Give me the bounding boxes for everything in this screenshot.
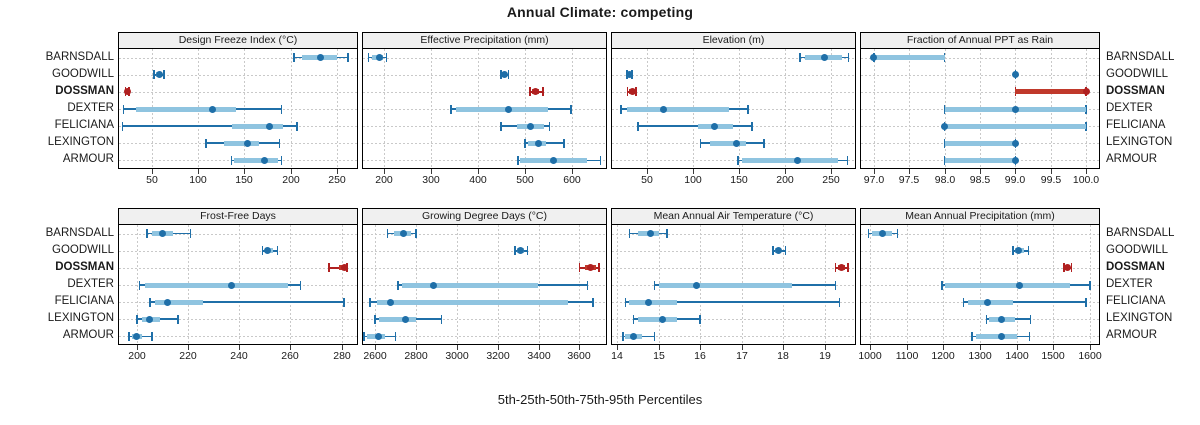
median-point xyxy=(1012,157,1019,164)
whisker-cap-low xyxy=(146,229,148,238)
median-point xyxy=(517,247,524,254)
row-label-armour: ARMOUR xyxy=(1106,154,1157,166)
gridline-horizontal xyxy=(363,126,606,127)
plot-area xyxy=(118,225,358,345)
interquartile-bar xyxy=(629,300,677,305)
whisker-cap-high xyxy=(163,70,165,79)
axis-tick-label: 15 xyxy=(653,351,665,362)
panel-title-strip: Growing Degree Days (°C) xyxy=(362,208,607,225)
plot-area xyxy=(860,225,1100,345)
whisker-cap-high xyxy=(847,263,849,272)
axis-tick-label: 600 xyxy=(563,175,581,186)
whisker-cap-high xyxy=(1085,298,1087,307)
whisker-cap-low xyxy=(139,281,141,290)
median-point xyxy=(430,282,437,289)
median-point xyxy=(775,247,782,254)
panel-title-text: Design Freeze Index (°C) xyxy=(179,35,298,46)
axis-tick-label: 1200 xyxy=(931,351,954,362)
whisker-cap-high xyxy=(587,281,589,290)
interquartile-bar xyxy=(145,283,288,288)
axis-tick-label: 1300 xyxy=(968,351,991,362)
whisker-cap-low xyxy=(231,156,233,165)
x-axis: 141516171819 xyxy=(611,345,856,365)
gridline-horizontal xyxy=(119,92,357,93)
whisker-cap-high xyxy=(441,315,443,324)
interquartile-bar xyxy=(377,300,568,305)
whisker-cap-low xyxy=(637,122,639,131)
gridline-horizontal xyxy=(363,251,606,252)
axis-tick-label: 17 xyxy=(736,351,748,362)
axis-tick-label: 500 xyxy=(516,175,534,186)
whisker-cap-low xyxy=(629,229,631,238)
interquartile-bar xyxy=(224,141,259,146)
whisker-cap-high xyxy=(600,156,602,165)
axis-tick-label: 18 xyxy=(777,351,789,362)
whisker-cap-high xyxy=(835,281,837,290)
median-point xyxy=(659,316,666,323)
plot-area xyxy=(362,225,607,345)
median-point xyxy=(164,299,171,306)
row-label-lexington: LEXINGTON xyxy=(48,137,114,149)
median-point xyxy=(244,140,251,147)
interquartile-bar xyxy=(742,158,839,163)
axis-tick-label: 400 xyxy=(469,175,487,186)
panel-title-text: Fraction of Annual PPT as Rain xyxy=(907,35,1053,46)
median-point xyxy=(228,282,235,289)
whisker-cap-low xyxy=(397,281,399,290)
gridline-horizontal xyxy=(612,92,855,93)
panel-effective-precipitation-mm: Effective Precipitation (mm)200300400500… xyxy=(362,32,607,189)
x-axis: 200300400500600 xyxy=(362,169,607,189)
panel-elevation-m: Elevation (m)50100150200250 xyxy=(611,32,856,189)
median-point xyxy=(209,106,216,113)
whisker-cap-high xyxy=(839,298,841,307)
axis-tick-label: 100.0 xyxy=(1073,175,1099,186)
whisker-cap-high xyxy=(415,229,417,238)
whisker-cap-high xyxy=(281,105,283,114)
axis-tick-label: 50 xyxy=(641,175,653,186)
axis-tick-label: 2800 xyxy=(404,351,427,362)
axis-tick-label: 200 xyxy=(282,175,300,186)
axis-tick-label: 1000 xyxy=(858,351,881,362)
row-label-lexington: LEXINGTON xyxy=(48,313,114,325)
axis-tick-label: 260 xyxy=(281,351,299,362)
panel-title-text: Growing Degree Days (°C) xyxy=(422,211,547,222)
gridline-horizontal xyxy=(119,336,357,337)
median-point xyxy=(1016,282,1023,289)
gridline-horizontal xyxy=(861,251,1099,252)
panel-title-strip: Mean Annual Air Temperature (°C) xyxy=(611,208,856,225)
whisker-cap-low xyxy=(368,53,370,62)
row-label-goodwill: GOODWILL xyxy=(52,69,114,81)
x-axis: 97.097.598.098.599.099.5100.0 xyxy=(860,169,1100,189)
interquartile-bar xyxy=(402,283,538,288)
gridline-horizontal xyxy=(363,75,606,76)
axis-tick-label: 100 xyxy=(189,175,207,186)
whisker-cap-high xyxy=(151,332,153,341)
median-point xyxy=(266,123,273,130)
median-point xyxy=(660,106,667,113)
interquartile-bar xyxy=(234,158,277,163)
median-point xyxy=(146,316,153,323)
whisker-cap-high xyxy=(1029,332,1031,341)
whisker-cap-low xyxy=(700,139,702,148)
median-point xyxy=(1012,71,1019,78)
whisker-cap-high xyxy=(763,139,765,148)
interquartile-bar xyxy=(945,141,1016,146)
whisker-cap-high xyxy=(177,315,179,324)
whisker-cap-low xyxy=(514,246,516,255)
axis-tick-label: 14 xyxy=(611,351,623,362)
axis-tick-label: 200 xyxy=(128,351,146,362)
whisker-cap-low xyxy=(654,281,656,290)
interquartile-bar xyxy=(945,283,1069,288)
row-label-lexington: LEXINGTON xyxy=(1106,313,1172,325)
interquartile-bar xyxy=(945,124,1087,129)
whisker-cap-low xyxy=(799,53,801,62)
gridline-horizontal xyxy=(363,268,606,269)
whisker-cap-high xyxy=(1089,281,1091,290)
row-label-armour: ARMOUR xyxy=(63,330,114,342)
median-point xyxy=(317,54,324,61)
panel-title-strip: Elevation (m) xyxy=(611,32,856,49)
panel-frost-free-days: Frost-Free Days200220240260280 xyxy=(118,208,358,365)
whisker-cap-high xyxy=(279,139,281,148)
whisker-cap-low xyxy=(374,315,376,324)
row-label-dossman: DOSSMAN xyxy=(1106,86,1165,98)
whisker-cap-low xyxy=(500,122,502,131)
axis-tick-label: 98.0 xyxy=(935,175,955,186)
gridline-horizontal xyxy=(612,251,855,252)
gridline-horizontal xyxy=(861,75,1099,76)
whisker-cap-low xyxy=(450,105,452,114)
axis-tick-label: 150 xyxy=(235,175,253,186)
panel-mean-annual-precipitation-mm: Mean Annual Precipitation (mm)1000110012… xyxy=(860,208,1100,365)
interquartile-bar xyxy=(710,141,747,146)
whisker-cap-low xyxy=(620,105,622,114)
panel-design-freeze-index-c: Design Freeze Index (°C)50100150200250 xyxy=(118,32,358,189)
median-point xyxy=(1012,140,1019,147)
percentile-legend-label: 5th-25th-50th-75th-95th Percentiles xyxy=(0,392,1200,407)
climate-chart-figure: Annual Climate: competing 5th-25th-50th-… xyxy=(0,0,1200,425)
whisker-cap-high xyxy=(542,87,544,96)
whisker-cap-low xyxy=(633,315,635,324)
whisker-line xyxy=(638,125,752,127)
whisker-cap-low xyxy=(149,298,151,307)
row-label-dossman: DOSSMAN xyxy=(55,262,114,274)
axis-tick-label: 280 xyxy=(333,351,351,362)
row-label-lexington: LEXINGTON xyxy=(1106,137,1172,149)
whisker-cap-high xyxy=(654,332,656,341)
median-point xyxy=(998,316,1005,323)
whisker-cap-low xyxy=(153,70,155,79)
whisker-cap-low xyxy=(941,281,943,290)
panel-title-text: Mean Annual Precipitation (mm) xyxy=(905,211,1054,222)
whisker-cap-low xyxy=(524,139,526,148)
gridline-horizontal xyxy=(363,92,606,93)
axis-tick-label: 300 xyxy=(422,175,440,186)
median-point xyxy=(733,140,740,147)
whisker-cap-low xyxy=(262,246,264,255)
plot-area xyxy=(611,225,856,345)
interquartile-bar xyxy=(659,283,792,288)
whisker-cap-low xyxy=(579,263,581,272)
panel-title-text: Elevation (m) xyxy=(703,35,765,46)
median-point xyxy=(630,333,637,340)
row-label-dossman: DOSSMAN xyxy=(1106,262,1165,274)
row-label-feliciana: FELICIANA xyxy=(1106,120,1165,132)
whisker-cap-high xyxy=(848,53,850,62)
median-point xyxy=(645,299,652,306)
whisker-cap-low xyxy=(971,332,973,341)
plot-area xyxy=(611,49,856,169)
gridline-horizontal xyxy=(119,268,357,269)
median-point xyxy=(941,123,948,130)
row-label-barnsdall: BARNSDALL xyxy=(46,228,114,240)
panel-title-strip: Mean Annual Precipitation (mm) xyxy=(860,208,1100,225)
whisker-cap-high xyxy=(1028,246,1030,255)
row-label-barnsdall: BARNSDALL xyxy=(1106,52,1174,64)
interquartile-bar xyxy=(627,107,729,112)
plot-area xyxy=(362,49,607,169)
gridline-horizontal xyxy=(861,319,1099,320)
axis-tick-label: 1500 xyxy=(1041,351,1064,362)
median-point xyxy=(527,123,534,130)
row-labels-left: BARNSDALLGOODWILLDOSSMANDEXTERFELICIANAL… xyxy=(0,225,114,345)
median-point xyxy=(693,282,700,289)
axis-tick-label: 1400 xyxy=(1005,351,1028,362)
interquartile-bar xyxy=(1015,89,1086,94)
gridline-horizontal xyxy=(119,251,357,252)
axis-tick-label: 250 xyxy=(328,175,346,186)
median-point xyxy=(711,123,718,130)
median-point xyxy=(505,106,512,113)
axis-tick-label: 2600 xyxy=(363,351,386,362)
axis-tick-label: 3400 xyxy=(527,351,550,362)
axis-tick-label: 99.5 xyxy=(1041,175,1061,186)
whisker-cap-low xyxy=(1012,246,1014,255)
x-axis: 260028003000320034003600 xyxy=(362,345,607,365)
x-axis: 200220240260280 xyxy=(118,345,358,365)
whisker-cap-low xyxy=(328,263,330,272)
panel-title-text: Frost-Free Days xyxy=(200,211,276,222)
whisker-cap-high xyxy=(592,298,594,307)
axis-tick-label: 1600 xyxy=(1078,351,1101,362)
interquartile-bar xyxy=(456,107,548,112)
median-point xyxy=(376,54,383,61)
row-label-dexter: DEXTER xyxy=(1106,103,1153,115)
axis-tick-label: 250 xyxy=(822,175,840,186)
interquartile-bar xyxy=(638,317,678,322)
row-label-armour: ARMOUR xyxy=(63,154,114,166)
whisker-cap-high xyxy=(897,229,899,238)
whisker-cap-low xyxy=(625,298,627,307)
interquartile-bar xyxy=(976,334,1016,339)
panel-title-text: Mean Annual Air Temperature (°C) xyxy=(654,211,814,222)
row-labels-left: BARNSDALLGOODWILLDOSSMANDEXTERFELICIANAL… xyxy=(0,49,114,169)
axis-tick-label: 3000 xyxy=(445,351,468,362)
median-point xyxy=(647,230,654,237)
whisker-cap-high xyxy=(563,139,565,148)
whisker-cap-low xyxy=(123,105,125,114)
row-label-goodwill: GOODWILL xyxy=(1106,69,1168,81)
whisker-cap-high xyxy=(508,70,510,79)
row-label-dexter: DEXTER xyxy=(67,103,114,115)
whisker-cap-high xyxy=(527,246,529,255)
panel-title-strip: Effective Precipitation (mm) xyxy=(362,32,607,49)
median-point xyxy=(375,333,382,340)
gridline-horizontal xyxy=(363,58,606,59)
interquartile-bar xyxy=(874,55,945,60)
interquartile-bar xyxy=(155,300,204,305)
whisker-cap-low xyxy=(835,263,837,272)
row-label-feliciana: FELICIANA xyxy=(55,296,114,308)
whisker-cap-high xyxy=(747,105,749,114)
axis-tick-label: 3600 xyxy=(567,351,590,362)
whisker-cap-low xyxy=(737,156,739,165)
panel-title-strip: Design Freeze Index (°C) xyxy=(118,32,358,49)
plot-area xyxy=(860,49,1100,169)
row-label-barnsdall: BARNSDALL xyxy=(1106,228,1174,240)
whisker-cap-high xyxy=(296,122,298,131)
panel-mean-annual-air-temperature-c: Mean Annual Air Temperature (°C)14151617… xyxy=(611,208,856,365)
whisker-cap-high xyxy=(190,229,192,238)
whisker-cap-low xyxy=(517,156,519,165)
axis-tick-label: 150 xyxy=(730,175,748,186)
whisker-cap-low xyxy=(622,332,624,341)
row-label-barnsdall: BARNSDALL xyxy=(46,52,114,64)
panel-fraction-of-annual-ppt-as-rain: Fraction of Annual PPT as Rain97.097.598… xyxy=(860,32,1100,189)
whisker-cap-low xyxy=(529,87,531,96)
row-labels-right: BARNSDALLGOODWILLDOSSMANDEXTERFELICIANAL… xyxy=(1106,49,1200,169)
axis-tick-label: 97.0 xyxy=(864,175,884,186)
whisker-cap-high xyxy=(785,246,787,255)
whisker-cap-low xyxy=(363,332,365,341)
whisker-cap-high xyxy=(570,105,572,114)
axis-tick-label: 100 xyxy=(684,175,702,186)
whisker-cap-low xyxy=(293,53,295,62)
whisker-cap-low xyxy=(369,298,371,307)
whisker-cap-high xyxy=(347,53,349,62)
gridline-horizontal xyxy=(363,143,606,144)
axis-tick-label: 16 xyxy=(694,351,706,362)
whisker-cap-high xyxy=(343,298,345,307)
x-axis: 1000110012001300140015001600 xyxy=(860,345,1100,365)
interquartile-bar xyxy=(945,158,1016,163)
axis-tick-label: 240 xyxy=(230,351,248,362)
row-label-dexter: DEXTER xyxy=(67,279,114,291)
panel-growing-degree-days-c: Growing Degree Days (°C)2600280030003200… xyxy=(362,208,607,365)
axis-tick-label: 1100 xyxy=(896,351,919,362)
whisker-cap-low xyxy=(122,122,124,131)
median-point xyxy=(159,230,166,237)
plot-area xyxy=(118,49,358,169)
interquartile-bar xyxy=(379,317,416,322)
whisker-cap-high xyxy=(751,122,753,131)
whisker-cap-high xyxy=(699,315,701,324)
row-label-goodwill: GOODWILL xyxy=(52,245,114,257)
row-labels-right: BARNSDALLGOODWILLDOSSMANDEXTERFELICIANAL… xyxy=(1106,225,1200,345)
whisker-cap-high xyxy=(598,263,600,272)
median-point xyxy=(1083,88,1090,95)
axis-tick-label: 220 xyxy=(179,351,197,362)
gridline-horizontal xyxy=(612,75,855,76)
whisker-cap-low xyxy=(963,298,965,307)
whisker-cap-low xyxy=(387,229,389,238)
whisker-cap-high xyxy=(549,122,551,131)
axis-tick-label: 97.5 xyxy=(899,175,919,186)
median-point xyxy=(387,299,394,306)
median-point xyxy=(1012,106,1019,113)
whisker-cap-high xyxy=(1030,315,1032,324)
whisker-cap-low xyxy=(136,315,138,324)
axis-tick-label: 98.5 xyxy=(970,175,990,186)
row-label-feliciana: FELICIANA xyxy=(1106,296,1165,308)
axis-tick-label: 200 xyxy=(375,175,393,186)
whisker-cap-low xyxy=(128,332,130,341)
median-point xyxy=(984,299,991,306)
whisker-cap-low xyxy=(205,139,207,148)
row-label-dossman: DOSSMAN xyxy=(55,86,114,98)
whisker-cap-high xyxy=(300,281,302,290)
whisker-cap-low xyxy=(868,229,870,238)
whisker-cap-high xyxy=(386,53,388,62)
whisker-cap-high xyxy=(277,246,279,255)
panel-title-text: Effective Precipitation (mm) xyxy=(420,35,548,46)
row-label-armour: ARMOUR xyxy=(1106,330,1157,342)
whisker-cap-high xyxy=(666,229,668,238)
whisker-cap-high xyxy=(281,156,283,165)
whisker-cap-high xyxy=(847,156,849,165)
axis-tick-label: 50 xyxy=(146,175,158,186)
axis-tick-label: 200 xyxy=(776,175,794,186)
gridline-horizontal xyxy=(363,336,606,337)
gridline-horizontal xyxy=(612,268,855,269)
panel-title-strip: Frost-Free Days xyxy=(118,208,358,225)
axis-tick-label: 99.0 xyxy=(1005,175,1025,186)
row-label-dexter: DEXTER xyxy=(1106,279,1153,291)
axis-tick-label: 19 xyxy=(819,351,831,362)
median-point xyxy=(535,140,542,147)
x-axis: 50100150200250 xyxy=(611,169,856,189)
panel-title-strip: Fraction of Annual PPT as Rain xyxy=(860,32,1100,49)
interquartile-bar xyxy=(136,107,237,112)
whisker-cap-high xyxy=(395,332,397,341)
row-label-goodwill: GOODWILL xyxy=(1106,245,1168,257)
row-label-feliciana: FELICIANA xyxy=(55,120,114,132)
median-point xyxy=(532,88,539,95)
interquartile-bar xyxy=(232,124,283,129)
whisker-cap-low xyxy=(772,246,774,255)
x-axis: 50100150200250 xyxy=(118,169,358,189)
whisker-cap-low xyxy=(986,315,988,324)
axis-tick-label: 3200 xyxy=(486,351,509,362)
